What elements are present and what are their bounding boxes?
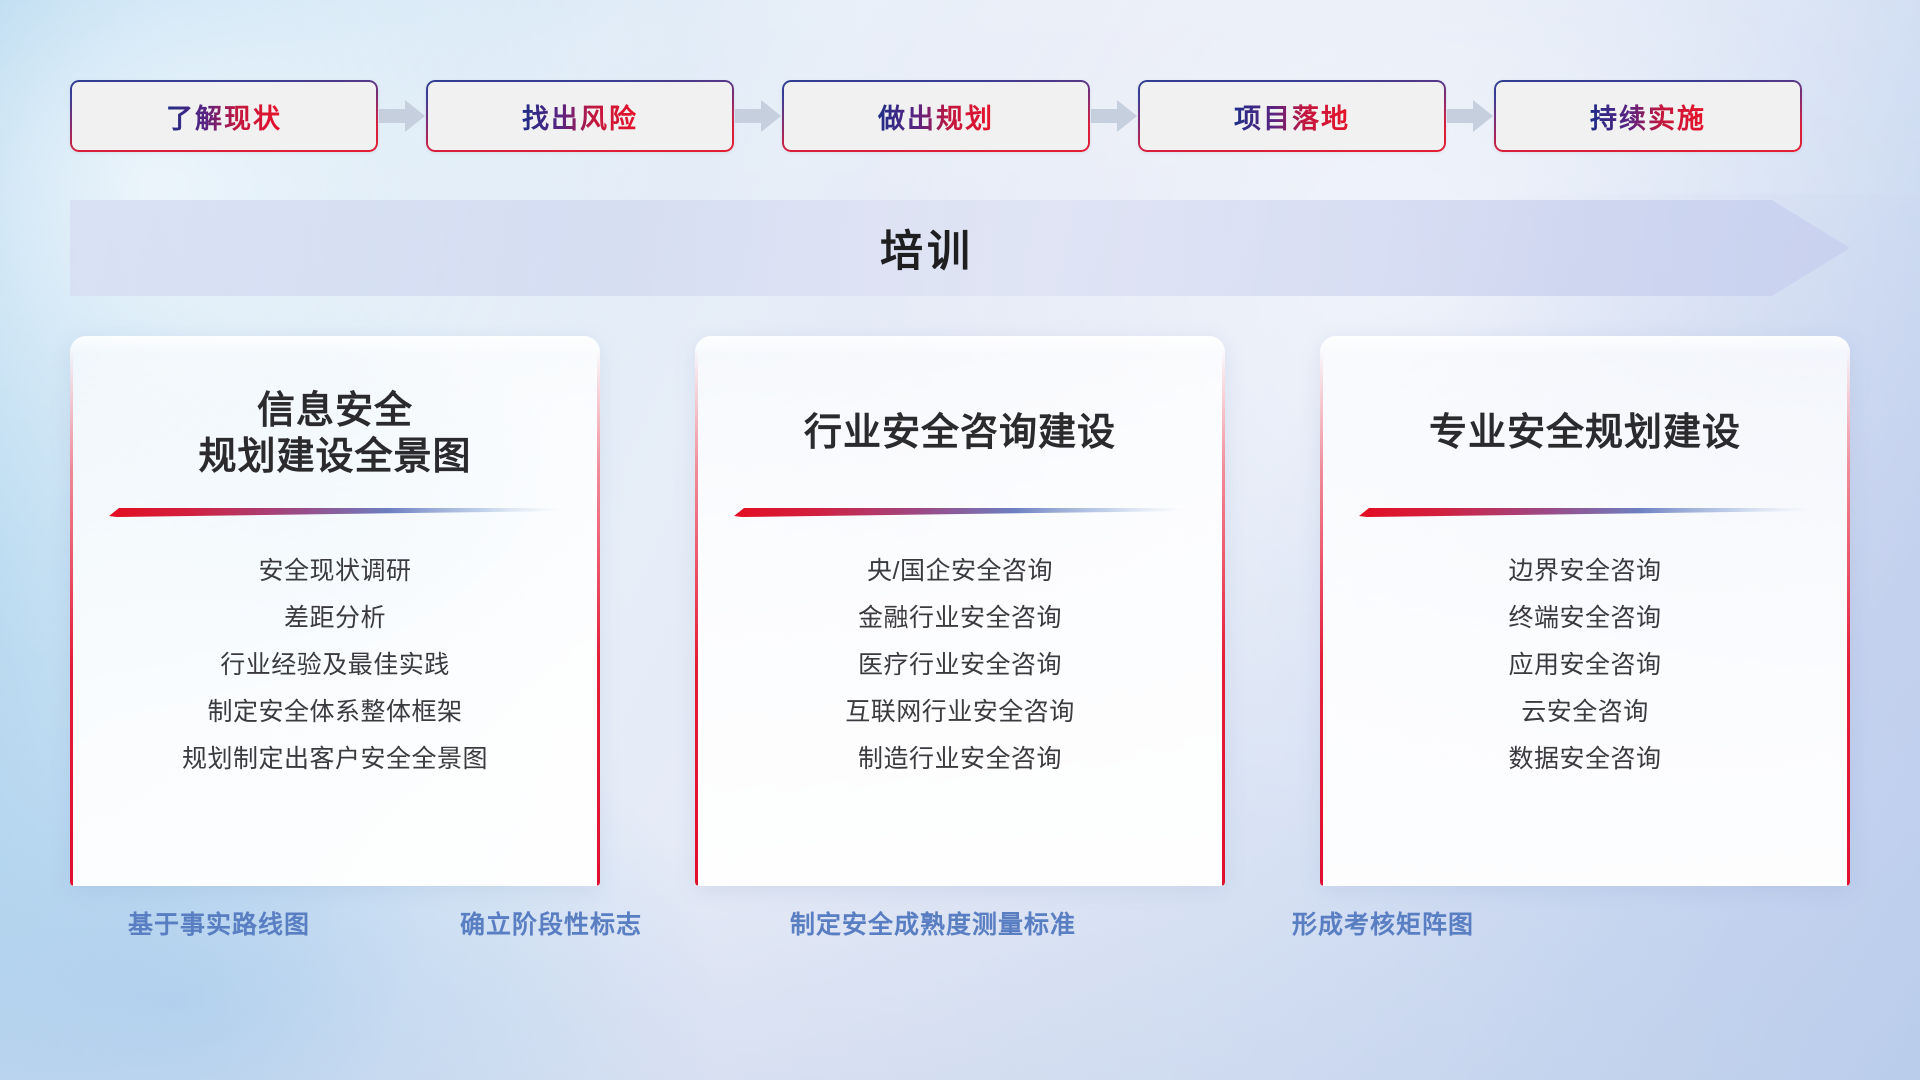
step-box-2[interactable]: 找出风险 xyxy=(426,80,734,152)
step-box-4[interactable]: 项目落地 xyxy=(1138,80,1446,152)
list-item[interactable]: 央/国企安全咨询 xyxy=(867,556,1053,586)
step-separator-arrow-icon xyxy=(1446,80,1494,152)
footnote-label-1: 基于事实路线图 xyxy=(128,905,310,941)
step-separator-arrow-icon xyxy=(378,80,426,152)
card-item-list: 边界安全咨询终端安全咨询应用安全咨询云安全咨询数据安全咨询 xyxy=(1508,556,1661,774)
list-item[interactable]: 差距分析 xyxy=(284,603,386,633)
step-label: 持续实施 xyxy=(1590,97,1706,136)
list-item[interactable]: 医疗行业安全咨询 xyxy=(858,650,1062,680)
service-card-1[interactable]: 信息安全规划建设全景图安全现状调研差距分析行业经验及最佳实践制定安全体系整体框架… xyxy=(70,336,600,886)
list-item[interactable]: 安全现状调研 xyxy=(258,556,411,586)
list-item[interactable]: 应用安全咨询 xyxy=(1508,650,1661,680)
step-label: 项目落地 xyxy=(1234,97,1350,136)
list-item[interactable]: 制定安全体系整体框架 xyxy=(207,697,462,727)
list-item[interactable]: 云安全咨询 xyxy=(1521,697,1649,727)
card-divider-rule xyxy=(109,506,561,518)
card-title: 专业安全规划建设 xyxy=(1429,384,1741,484)
step-separator-arrow-icon xyxy=(1090,80,1138,152)
footnote-label-3: 制定安全成熟度测量标准 xyxy=(790,905,1076,941)
card-title-line: 行业安全咨询建设 xyxy=(804,409,1116,458)
card-item-list: 央/国企安全咨询金融行业安全咨询医疗行业安全咨询互联网行业安全咨询制造行业安全咨… xyxy=(845,556,1075,774)
card-divider-rule xyxy=(1359,506,1811,518)
list-item[interactable]: 金融行业安全咨询 xyxy=(858,603,1062,633)
list-item[interactable]: 规划制定出客户安全全景图 xyxy=(182,744,488,774)
step-label: 找出风险 xyxy=(522,97,638,136)
list-item[interactable]: 边界安全咨询 xyxy=(1508,556,1661,586)
card-title: 信息安全规划建设全景图 xyxy=(198,384,471,484)
step-separator-arrow-icon xyxy=(734,80,782,152)
training-banner: 培训 xyxy=(70,200,1850,296)
step-box-5[interactable]: 持续实施 xyxy=(1494,80,1802,152)
card-divider-rule xyxy=(734,506,1186,518)
step-box-1[interactable]: 了解现状 xyxy=(70,80,378,152)
service-card-2[interactable]: 行业安全咨询建设央/国企安全咨询金融行业安全咨询医疗行业安全咨询互联网行业安全咨… xyxy=(695,336,1225,886)
step-label: 了解现状 xyxy=(166,97,282,136)
list-item[interactable]: 数据安全咨询 xyxy=(1508,744,1661,774)
card-title: 行业安全咨询建设 xyxy=(804,384,1116,484)
list-item[interactable]: 终端安全咨询 xyxy=(1508,603,1661,633)
list-item[interactable]: 互联网行业安全咨询 xyxy=(845,697,1075,727)
footnote-label-4: 形成考核矩阵图 xyxy=(1292,905,1474,941)
footnote-label-2: 确立阶段性标志 xyxy=(460,905,642,941)
footnote-row: 基于事实路线图确立阶段性标志制定安全成熟度测量标准形成考核矩阵图 xyxy=(70,905,1850,965)
service-card-3[interactable]: 专业安全规划建设边界安全咨询终端安全咨询应用安全咨询云安全咨询数据安全咨询 xyxy=(1320,336,1850,886)
step-label: 做出规划 xyxy=(878,97,994,136)
step-box-3[interactable]: 做出规划 xyxy=(782,80,1090,152)
list-item[interactable]: 制造行业安全咨询 xyxy=(858,744,1062,774)
card-title-line: 专业安全规划建设 xyxy=(1429,409,1741,458)
banner-title: 培训 xyxy=(70,200,1850,296)
list-item[interactable]: 行业经验及最佳实践 xyxy=(220,650,450,680)
service-card-group: 信息安全规划建设全景图安全现状调研差距分析行业经验及最佳实践制定安全体系整体框架… xyxy=(70,336,1850,886)
card-title-line: 信息安全 xyxy=(198,388,471,434)
process-step-flow: 了解现状找出风险做出规划项目落地持续实施 xyxy=(70,80,1850,152)
card-item-list: 安全现状调研差距分析行业经验及最佳实践制定安全体系整体框架规划制定出客户安全全景… xyxy=(182,556,488,774)
card-title-line: 规划建设全景图 xyxy=(198,434,471,480)
